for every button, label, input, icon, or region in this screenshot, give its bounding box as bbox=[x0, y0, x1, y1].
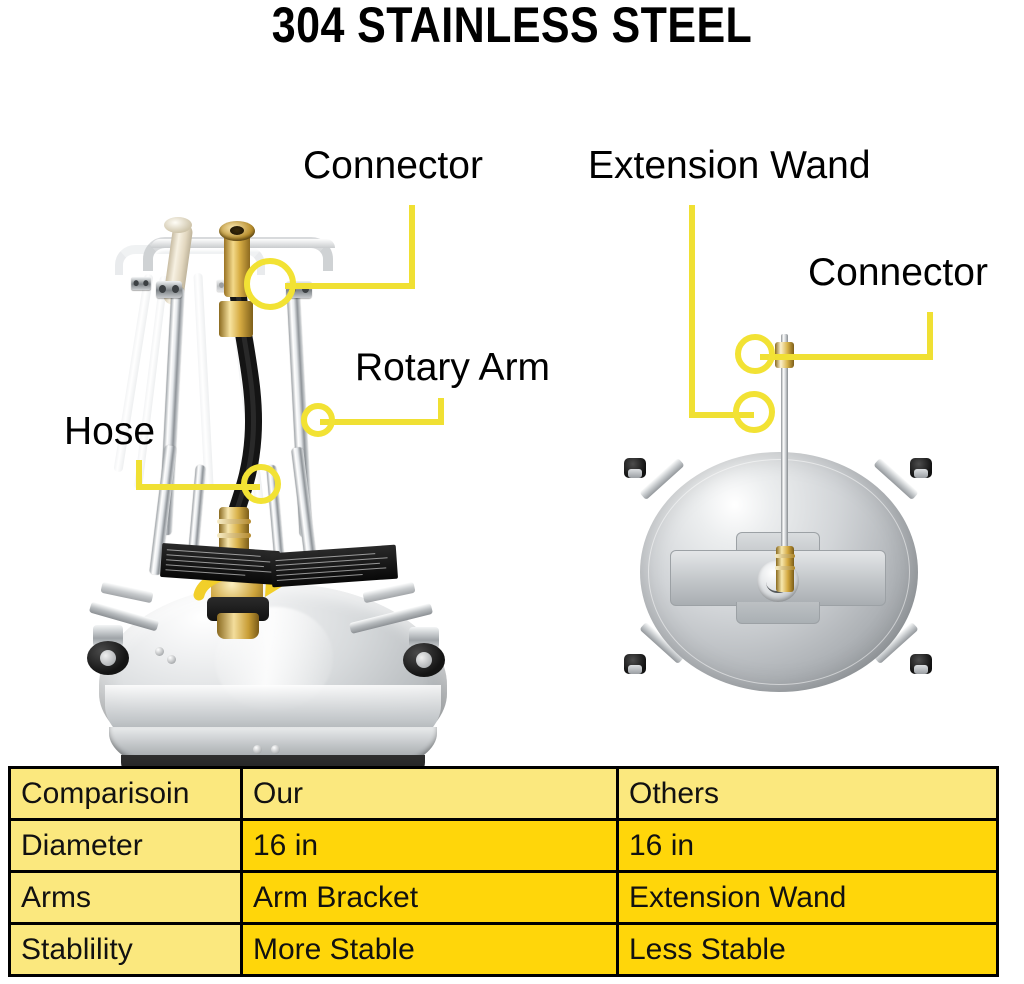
table-cell-label: Arms bbox=[10, 872, 242, 924]
rotary-arm-ghost bbox=[193, 273, 213, 488]
grip-handle-cap bbox=[164, 217, 192, 233]
page-title: 304 STAINLESS STEEL bbox=[72, 0, 953, 54]
table-cell-our: Arm Bracket bbox=[242, 872, 618, 924]
leader-line-connector-left-horizontal bbox=[285, 283, 415, 289]
table-cell-others: Less Stable bbox=[618, 924, 998, 976]
arm-clamp bbox=[156, 281, 182, 298]
table-row: Diameter 16 in 16 in bbox=[10, 820, 998, 872]
arm-clamp bbox=[131, 277, 151, 290]
callout-marker-extension-wand bbox=[733, 391, 775, 433]
product-image-top-view bbox=[618, 440, 938, 700]
disc-bolt bbox=[271, 745, 280, 754]
comparison-table: Comparisoin Our Others Diameter 16 in 16… bbox=[8, 766, 999, 977]
table-cell-others: 16 in bbox=[618, 820, 998, 872]
callout-marker-hose bbox=[241, 464, 281, 504]
table-cell-our: 16 in bbox=[242, 820, 618, 872]
caster-wheel bbox=[624, 458, 646, 478]
leader-line-extension-wand-vertical bbox=[689, 205, 695, 418]
infographic-page: 304 STAINLESS STEEL bbox=[0, 0, 1024, 984]
handle-recess-bottom bbox=[736, 602, 820, 624]
warning-label-right bbox=[270, 545, 398, 588]
caster-wheel bbox=[910, 458, 932, 478]
leader-line-connector-right-vertical bbox=[927, 312, 933, 360]
caster-bracket bbox=[100, 582, 153, 604]
leader-line-connector-right-horizontal bbox=[760, 354, 933, 360]
callout-label-rotary-arm: Rotary Arm bbox=[355, 348, 550, 387]
disc-bolt bbox=[167, 655, 176, 664]
warning-label-left bbox=[160, 543, 280, 585]
callout-label-connector-right: Connector bbox=[808, 253, 988, 292]
table-header-row: Comparisoin Our Others bbox=[10, 768, 998, 820]
brass-elbow-fitting bbox=[776, 546, 794, 592]
caster-wheel bbox=[624, 654, 646, 674]
table-cell-our: More Stable bbox=[242, 924, 618, 976]
table-row: Arms Arm Bracket Extension Wand bbox=[10, 872, 998, 924]
table-cell-others: Extension Wand bbox=[618, 872, 998, 924]
callout-label-hose: Hose bbox=[64, 412, 155, 451]
caster-wheel bbox=[87, 625, 129, 675]
table-row: Stablility More Stable Less Stable bbox=[10, 924, 998, 976]
table-header-our: Our bbox=[242, 768, 618, 820]
callout-marker-connector-right bbox=[735, 334, 775, 374]
caster-bracket bbox=[362, 582, 415, 604]
callout-label-extension-wand: Extension Wand bbox=[588, 146, 871, 185]
disc-bolt bbox=[253, 745, 262, 754]
brass-connector-collar bbox=[219, 301, 253, 337]
brass-connector-cap bbox=[219, 221, 255, 241]
leader-line-rotary-arm-horizontal bbox=[320, 419, 444, 425]
table-header-others: Others bbox=[618, 768, 998, 820]
callout-marker-connector-left bbox=[244, 258, 296, 310]
caster-wheel bbox=[403, 627, 445, 677]
disc-bolt bbox=[155, 647, 164, 656]
leader-line-connector-left-vertical bbox=[409, 205, 415, 289]
table-header-comparison: Comparisoin bbox=[10, 768, 242, 820]
swivel-hub-brass bbox=[217, 613, 259, 639]
table-cell-label: Diameter bbox=[10, 820, 242, 872]
caster-wheel bbox=[910, 654, 932, 674]
callout-label-connector-left: Connector bbox=[303, 146, 483, 185]
table-cell-label: Stablility bbox=[10, 924, 242, 976]
callout-marker-rotary-arm bbox=[301, 403, 335, 437]
